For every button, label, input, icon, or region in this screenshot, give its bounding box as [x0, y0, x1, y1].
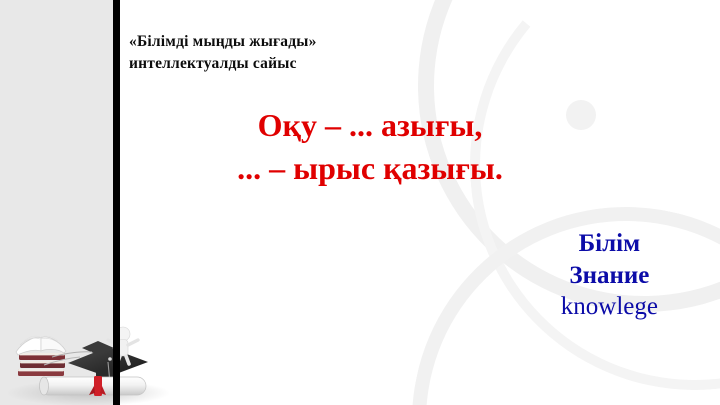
- slide-canvas: «Білімді мыңды жығады» интеллектуалды са…: [0, 0, 720, 405]
- contest-title: «Білімді мыңды жығады» интеллектуалды са…: [129, 31, 549, 75]
- contest-title-line2: интеллектуалды сайыс: [129, 53, 549, 75]
- riddle-line1: Оқу – ... азығы,: [120, 104, 620, 147]
- contest-title-line1: «Білімді мыңды жығады»: [129, 31, 549, 53]
- riddle-text: Оқу – ... азығы, ... – ырыс қазығы.: [120, 104, 620, 190]
- glossary-english: knowlege: [561, 291, 658, 323]
- art-stacked-books: [18, 353, 65, 376]
- art-open-book: [16, 336, 66, 355]
- glossary-russian: Знание: [561, 260, 658, 292]
- glossary-kazakh: Білім: [561, 228, 658, 260]
- art-diploma-scroll: [40, 376, 147, 396]
- graduation-books-diploma-illustration: [0, 307, 176, 405]
- riddle-line2: ... – ырыс қазығы.: [120, 147, 620, 190]
- glossary-block: Білім Знание knowlege: [561, 228, 658, 323]
- left-black-divider: [113, 0, 120, 405]
- swoosh-arc-bottom-icon: [372, 167, 720, 405]
